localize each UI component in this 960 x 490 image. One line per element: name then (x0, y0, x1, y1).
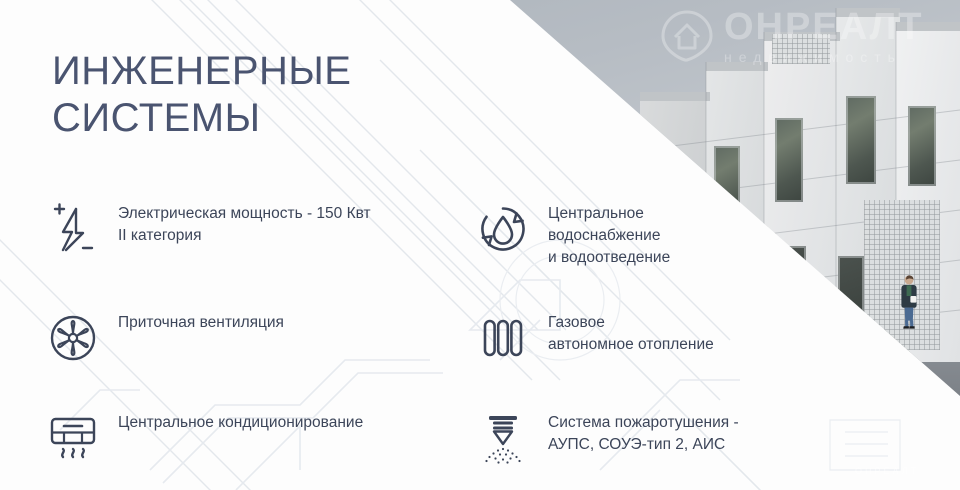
lightning-bolt-icon (44, 200, 102, 258)
feature-item-fire-suppression: Система пожаротушения - АУПС, СОУЭ-тип 2… (474, 409, 924, 467)
window (775, 118, 803, 202)
features-grid: Электрическая мощность - 150 Квт II кате… (44, 200, 924, 467)
water-drop-cycle-icon (474, 200, 532, 258)
perforated-panel-top (772, 34, 830, 64)
feature-row: Центральное кондиционирование (44, 409, 924, 467)
feature-label: Центральное водоснабжение и водоотведени… (548, 200, 670, 269)
feature-item-gas-heating: Газовое автономное отопление (474, 309, 924, 367)
feature-row: Электрическая мощность - 150 Квт II кате… (44, 200, 924, 269)
window (908, 106, 936, 186)
feature-label: Приточная вентиляция (118, 309, 284, 334)
feature-label: Газовое автономное отопление (548, 309, 714, 356)
fire-sprinkler-icon (474, 409, 532, 467)
window (846, 96, 876, 184)
feature-item-air-conditioning: Центральное кондиционирование (44, 409, 474, 467)
feature-label: Электрическая мощность - 150 Квт II кате… (118, 200, 371, 247)
air-conditioner-icon (44, 409, 102, 467)
feature-item-electrical-power: Электрическая мощность - 150 Квт II кате… (44, 200, 474, 258)
feature-row: Приточная вентиляция Газовое (44, 309, 924, 367)
radiator-heating-icon (474, 309, 532, 367)
feature-item-water-supply: Центральное водоснабжение и водоотведени… (474, 200, 924, 269)
watermark-bottom: ОНРЕАЛТ (855, 466, 919, 476)
feature-label: Система пожаротушения - АУПС, СОУЭ-тип 2… (548, 409, 739, 456)
feature-item-ventilation: Приточная вентиляция (44, 309, 474, 367)
page-title: ИНЖЕНЕРНЫЕ СИСТЕМЫ (52, 48, 351, 142)
slide-root: ОНРЕАЛТ недвижимость ОНРЕАЛТ ИНЖЕНЕРНЫЕ … (0, 0, 960, 490)
fan-ventilation-icon (44, 309, 102, 367)
feature-label: Центральное кондиционирование (118, 409, 363, 434)
